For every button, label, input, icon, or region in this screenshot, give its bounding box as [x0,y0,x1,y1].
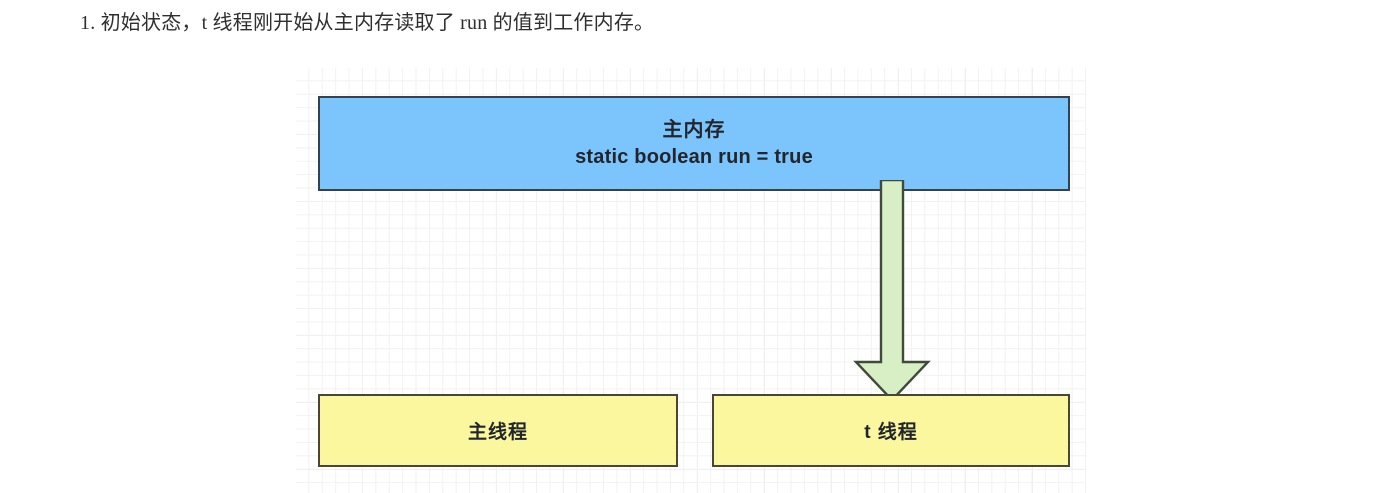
read-arrow-down [852,180,932,402]
main-thread-box: 主线程 [318,394,678,467]
page-title: 1. 初始状态，t 线程刚开始从主内存读取了 run 的值到工作内存。 [80,9,654,37]
main-memory-declaration: static boolean run = true [575,143,813,171]
main-memory-box: 主内存 static boolean run = true [318,96,1070,191]
main-memory-title: 主内存 [663,117,726,143]
t-thread-label: t 线程 [864,417,918,444]
main-thread-label: 主线程 [468,417,528,444]
diagram-canvas: 主内存 static boolean run = true 主线程 t 线程 [296,68,1086,493]
t-thread-box: t 线程 [712,394,1070,467]
